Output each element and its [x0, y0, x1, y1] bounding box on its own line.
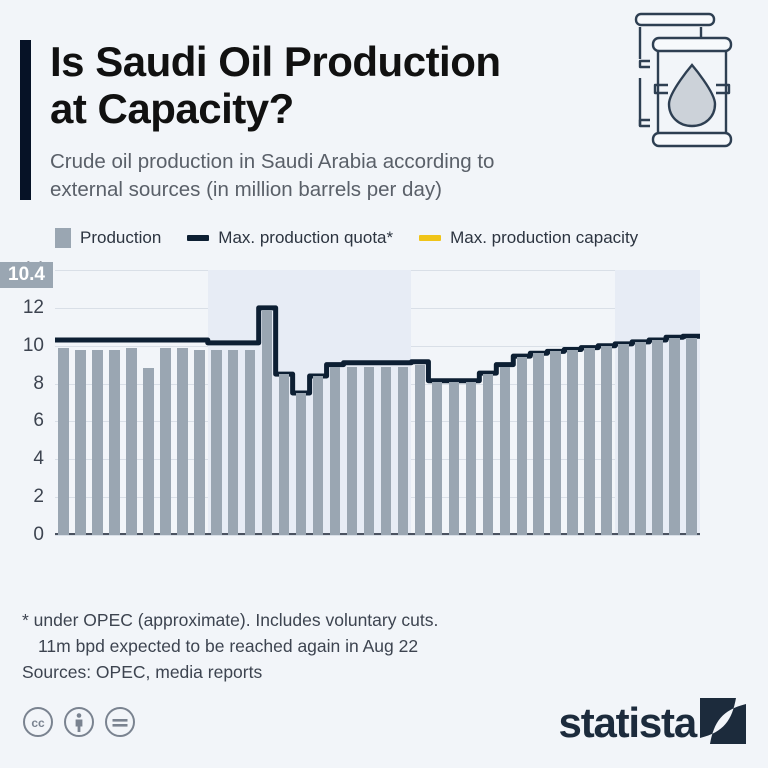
legend-item-capacity: Max. production capacity	[419, 228, 638, 248]
legend-label-quota: Max. production quota*	[218, 228, 393, 248]
bar	[92, 350, 103, 536]
page-title-line-2: at Capacity?	[50, 85, 610, 132]
bar	[567, 350, 578, 536]
legend-item-production: Production	[55, 228, 161, 248]
y-tick-label-0: 0	[33, 524, 44, 546]
bar	[415, 365, 426, 535]
bar	[245, 350, 256, 536]
page-subtitle: Crude oil production in Saudi Arabia acc…	[50, 148, 640, 203]
bar	[381, 367, 392, 535]
chart-area: 02468101214 12.0 10.5 10.4	[0, 262, 768, 592]
bar	[449, 382, 460, 535]
statista-logo: statista	[559, 700, 746, 746]
bar	[466, 382, 477, 535]
bar	[58, 348, 69, 535]
legend-label-production: Production	[80, 228, 161, 248]
footnote: * under OPEC (approximate). Includes vol…	[22, 608, 582, 659]
footnote-line-2: 11m bpd expected to be reached again in …	[22, 634, 582, 660]
bar	[618, 344, 629, 535]
bar	[228, 350, 239, 535]
x-axis-year-bands	[55, 564, 700, 602]
bar	[109, 350, 120, 536]
page-title-line-1: Is Saudi Oil Production	[50, 38, 610, 85]
bar	[262, 310, 273, 535]
page-subtitle-line-1: Crude oil production in Saudi Arabia acc…	[50, 148, 640, 176]
oil-barrel-droplet-icon	[620, 8, 760, 156]
y-tick-label-4: 4	[33, 448, 44, 470]
chart-legend: Production Max. production quota* Max. p…	[55, 228, 638, 248]
bar	[500, 367, 511, 535]
bar	[143, 368, 154, 535]
bar	[584, 348, 595, 535]
x-axis-ticks	[55, 540, 700, 566]
bar	[601, 346, 612, 535]
page-subtitle-line-2: external sources (in million barrels per…	[50, 176, 640, 204]
legend-bar-swatch-icon	[55, 228, 71, 248]
y-tick-label-8: 8	[33, 373, 44, 395]
bar	[364, 367, 375, 535]
bar	[483, 374, 494, 535]
bar	[517, 357, 528, 535]
sources-line: Sources: OPEC, media reports	[22, 662, 262, 683]
bar	[279, 374, 290, 535]
bar	[75, 350, 86, 536]
bar	[177, 348, 188, 535]
plot-area	[55, 270, 700, 535]
bar	[635, 342, 646, 535]
bar	[211, 350, 222, 535]
bar	[296, 393, 307, 535]
bar	[330, 367, 341, 535]
bar	[160, 348, 171, 535]
bar	[194, 350, 205, 536]
by-person-icon	[63, 706, 95, 743]
statista-wordmark: statista	[559, 702, 696, 744]
y-axis-labels: 02468101214	[0, 270, 50, 535]
value-tag-production: 10.4	[0, 262, 53, 288]
bar	[313, 376, 324, 535]
bar	[686, 338, 697, 535]
bar	[669, 338, 680, 535]
bar	[398, 367, 409, 535]
svg-text:cc: cc	[31, 716, 45, 730]
bar	[126, 348, 137, 535]
bar	[550, 351, 561, 535]
header: Is Saudi Oil Production at Capacity? Cru…	[0, 0, 768, 215]
infographic-root: Is Saudi Oil Production at Capacity? Cru…	[0, 0, 768, 768]
cc-icon: cc	[22, 706, 54, 743]
footnote-line-1: * under OPEC (approximate). Includes vol…	[22, 610, 438, 630]
bar	[432, 382, 443, 535]
statista-mark-icon	[700, 698, 746, 749]
gridline-0	[55, 535, 700, 536]
title-accent-bar	[20, 40, 31, 200]
y-tick-label-2: 2	[33, 486, 44, 508]
legend-label-capacity: Max. production capacity	[450, 228, 638, 248]
y-tick-label-10: 10	[23, 335, 44, 357]
legend-item-quota: Max. production quota*	[187, 228, 393, 248]
bar	[652, 340, 663, 535]
y-tick-label-6: 6	[33, 410, 44, 432]
y-tick-label-12: 12	[23, 297, 44, 319]
bar	[533, 353, 544, 535]
creative-commons-icons: cc	[22, 706, 136, 743]
legend-line-swatch-icon	[187, 235, 209, 241]
nd-equals-icon	[104, 706, 136, 743]
bar	[347, 367, 358, 535]
page-title: Is Saudi Oil Production at Capacity?	[50, 38, 610, 133]
legend-gold-line-swatch-icon	[419, 235, 441, 241]
